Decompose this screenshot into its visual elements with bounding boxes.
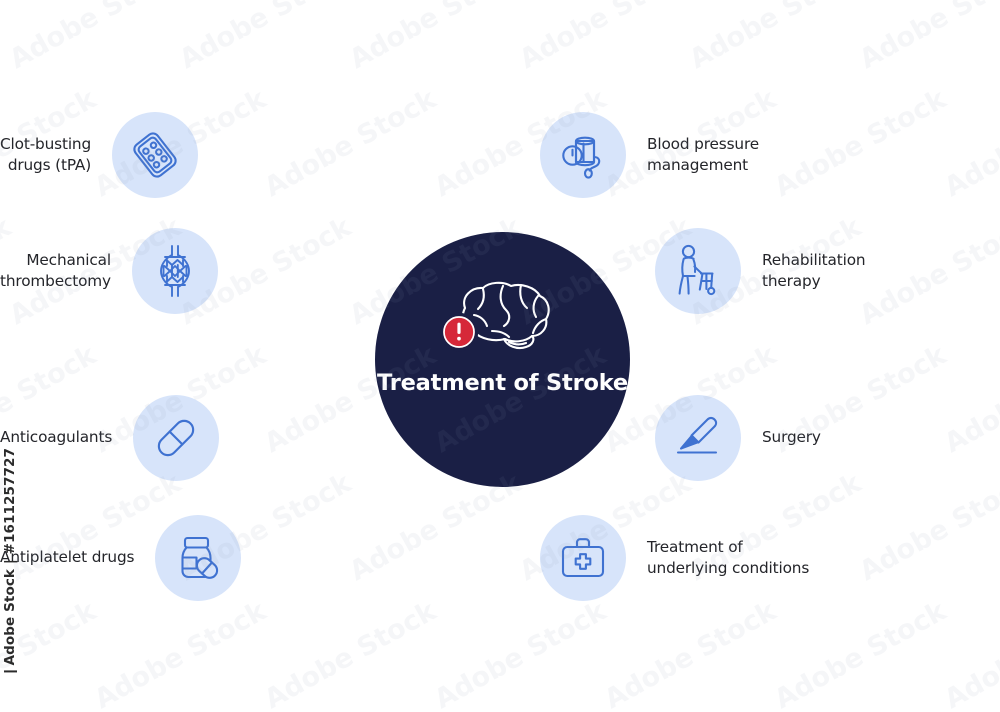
node-rehabilitation-therapy[interactable]: Rehabilitation therapy — [655, 228, 1000, 314]
node-blood-pressure-management[interactable]: Blood pressure management — [540, 112, 1000, 198]
node-label: Anticoagulants — [0, 427, 112, 449]
center-title: Treatment of Stroke — [377, 369, 628, 398]
patient-walker-icon — [655, 228, 741, 314]
stock-credit: Adobe Stock | #1611257727 — [2, 448, 18, 672]
watermark-tile: Adobe Stock — [514, 0, 696, 75]
first-aid-kit-icon — [540, 515, 626, 601]
capsule-pill-icon — [133, 395, 219, 481]
watermark-tile: Adobe Stock — [259, 596, 441, 712]
node-clot-busting-drugs[interactable]: Clot-busting drugs (tPA) — [0, 112, 460, 198]
stent-retriever-icon — [132, 228, 218, 314]
scalpel-icon — [655, 395, 741, 481]
node-label: Surgery — [762, 427, 821, 449]
pill-bottle-icon — [155, 515, 241, 601]
infographic-canvas: Adobe StockAdobe StockAdobe StockAdobe S… — [0, 0, 1000, 712]
watermark-tile: Adobe Stock — [344, 0, 526, 75]
node-label: Antiplatelet drugs — [0, 547, 134, 569]
watermark-tile: Adobe Stock — [684, 0, 866, 75]
node-underlying-conditions[interactable]: Treatment of underlying conditions — [540, 515, 1000, 601]
blood-pressure-cuff-icon — [540, 112, 626, 198]
credit-divider — [4, 670, 17, 672]
watermark-tile: Adobe Stock — [0, 0, 16, 75]
node-surgery[interactable]: Surgery — [655, 395, 1000, 481]
watermark-tile: Adobe Stock — [599, 596, 781, 712]
watermark-tile: Adobe Stock — [4, 0, 186, 75]
credit-text: Adobe Stock | #1611257727 — [2, 448, 18, 665]
node-anticoagulants[interactable]: Anticoagulants — [0, 395, 345, 481]
node-label: Rehabilitation therapy — [762, 250, 865, 293]
watermark-tile: Adobe Stock — [769, 596, 951, 712]
watermark-tile: Adobe Stock — [939, 596, 1000, 712]
node-label: Mechanical thrombectomy — [0, 250, 111, 293]
alert-badge-icon — [439, 312, 479, 352]
watermark-tile: Adobe Stock — [854, 0, 1000, 75]
watermark-tile: Adobe Stock — [429, 596, 611, 712]
node-label: Treatment of underlying conditions — [647, 537, 809, 580]
node-antiplatelet-drugs[interactable]: Antiplatelet drugs — [0, 515, 460, 601]
node-label: Clot-busting drugs (tPA) — [0, 134, 91, 177]
center-hub: Treatment of Stroke — [375, 232, 630, 487]
watermark-tile: Adobe Stock — [89, 596, 271, 712]
watermark-tile: Adobe Stock — [174, 0, 356, 75]
node-mechanical-thrombectomy[interactable]: Mechanical thrombectomy — [0, 228, 345, 314]
pill-blister-pack-icon — [112, 112, 198, 198]
node-label: Blood pressure management — [647, 134, 759, 177]
